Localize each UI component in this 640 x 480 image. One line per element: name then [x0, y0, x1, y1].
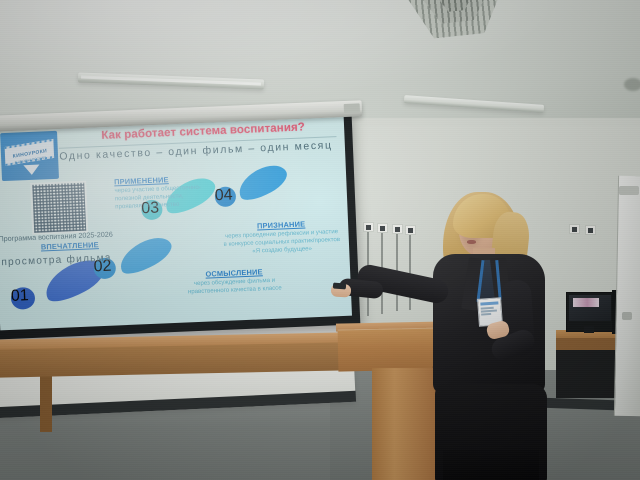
logo-triangle-icon: [23, 165, 39, 176]
block-osmyslenie: ОСМЫСЛЕНИЕ через обсуждение фильма и нра…: [174, 266, 295, 297]
presentation-photo: КИНОУРОКИ В ШКОЛАХ РОССИИ Как работает с…: [0, 0, 640, 480]
screen-roller-cap: [344, 103, 360, 113]
badge-text-line: [481, 307, 494, 309]
flipchart-clamp-icon: [619, 186, 639, 195]
block-priznanie-body: через проведение рефлексии и участие в к…: [222, 228, 341, 258]
ceiling-sensor-icon: [624, 78, 640, 91]
badge-text-line: [481, 310, 497, 313]
footprint-04: [233, 158, 291, 206]
block-priznanie: ПРИЗНАНИЕ через проведение рефлексии и у…: [222, 218, 341, 258]
wall-outlet[interactable]: [363, 222, 374, 232]
badge-header-bar: [480, 301, 498, 305]
wall-outlet[interactable]: [377, 223, 388, 233]
footprint-01-heel: 01: [11, 287, 36, 310]
badge-text-line: [481, 313, 491, 315]
slide-surface: КИНОУРОКИ В ШКОЛАХ РОССИИ Как работает с…: [0, 114, 352, 331]
qr-code-pattern: [32, 183, 86, 233]
presenter-legs: [443, 450, 539, 480]
qr-code[interactable]: [30, 181, 88, 235]
footprint-01-number: 01: [11, 287, 29, 305]
block-primenenie: ПРИМЕНЕНИЕ через участие в общественно-п…: [114, 174, 207, 212]
projection-screen: КИНОУРОКИ В ШКОЛАХ РОССИИ Как работает с…: [0, 108, 360, 339]
flipchart-board[interactable]: [614, 176, 640, 416]
presenter: [395, 188, 605, 480]
block-primenenie-body: через участие в общественно-полезной дея…: [114, 184, 207, 212]
table-leg: [40, 372, 52, 432]
footprint-04-number: 04: [214, 186, 232, 204]
footprint-04-heel: 04: [214, 186, 236, 207]
flipchart-bracket-icon: [622, 312, 632, 320]
presenter-remote-clicker[interactable]: [333, 283, 346, 290]
presenter-mouth: [467, 240, 476, 244]
